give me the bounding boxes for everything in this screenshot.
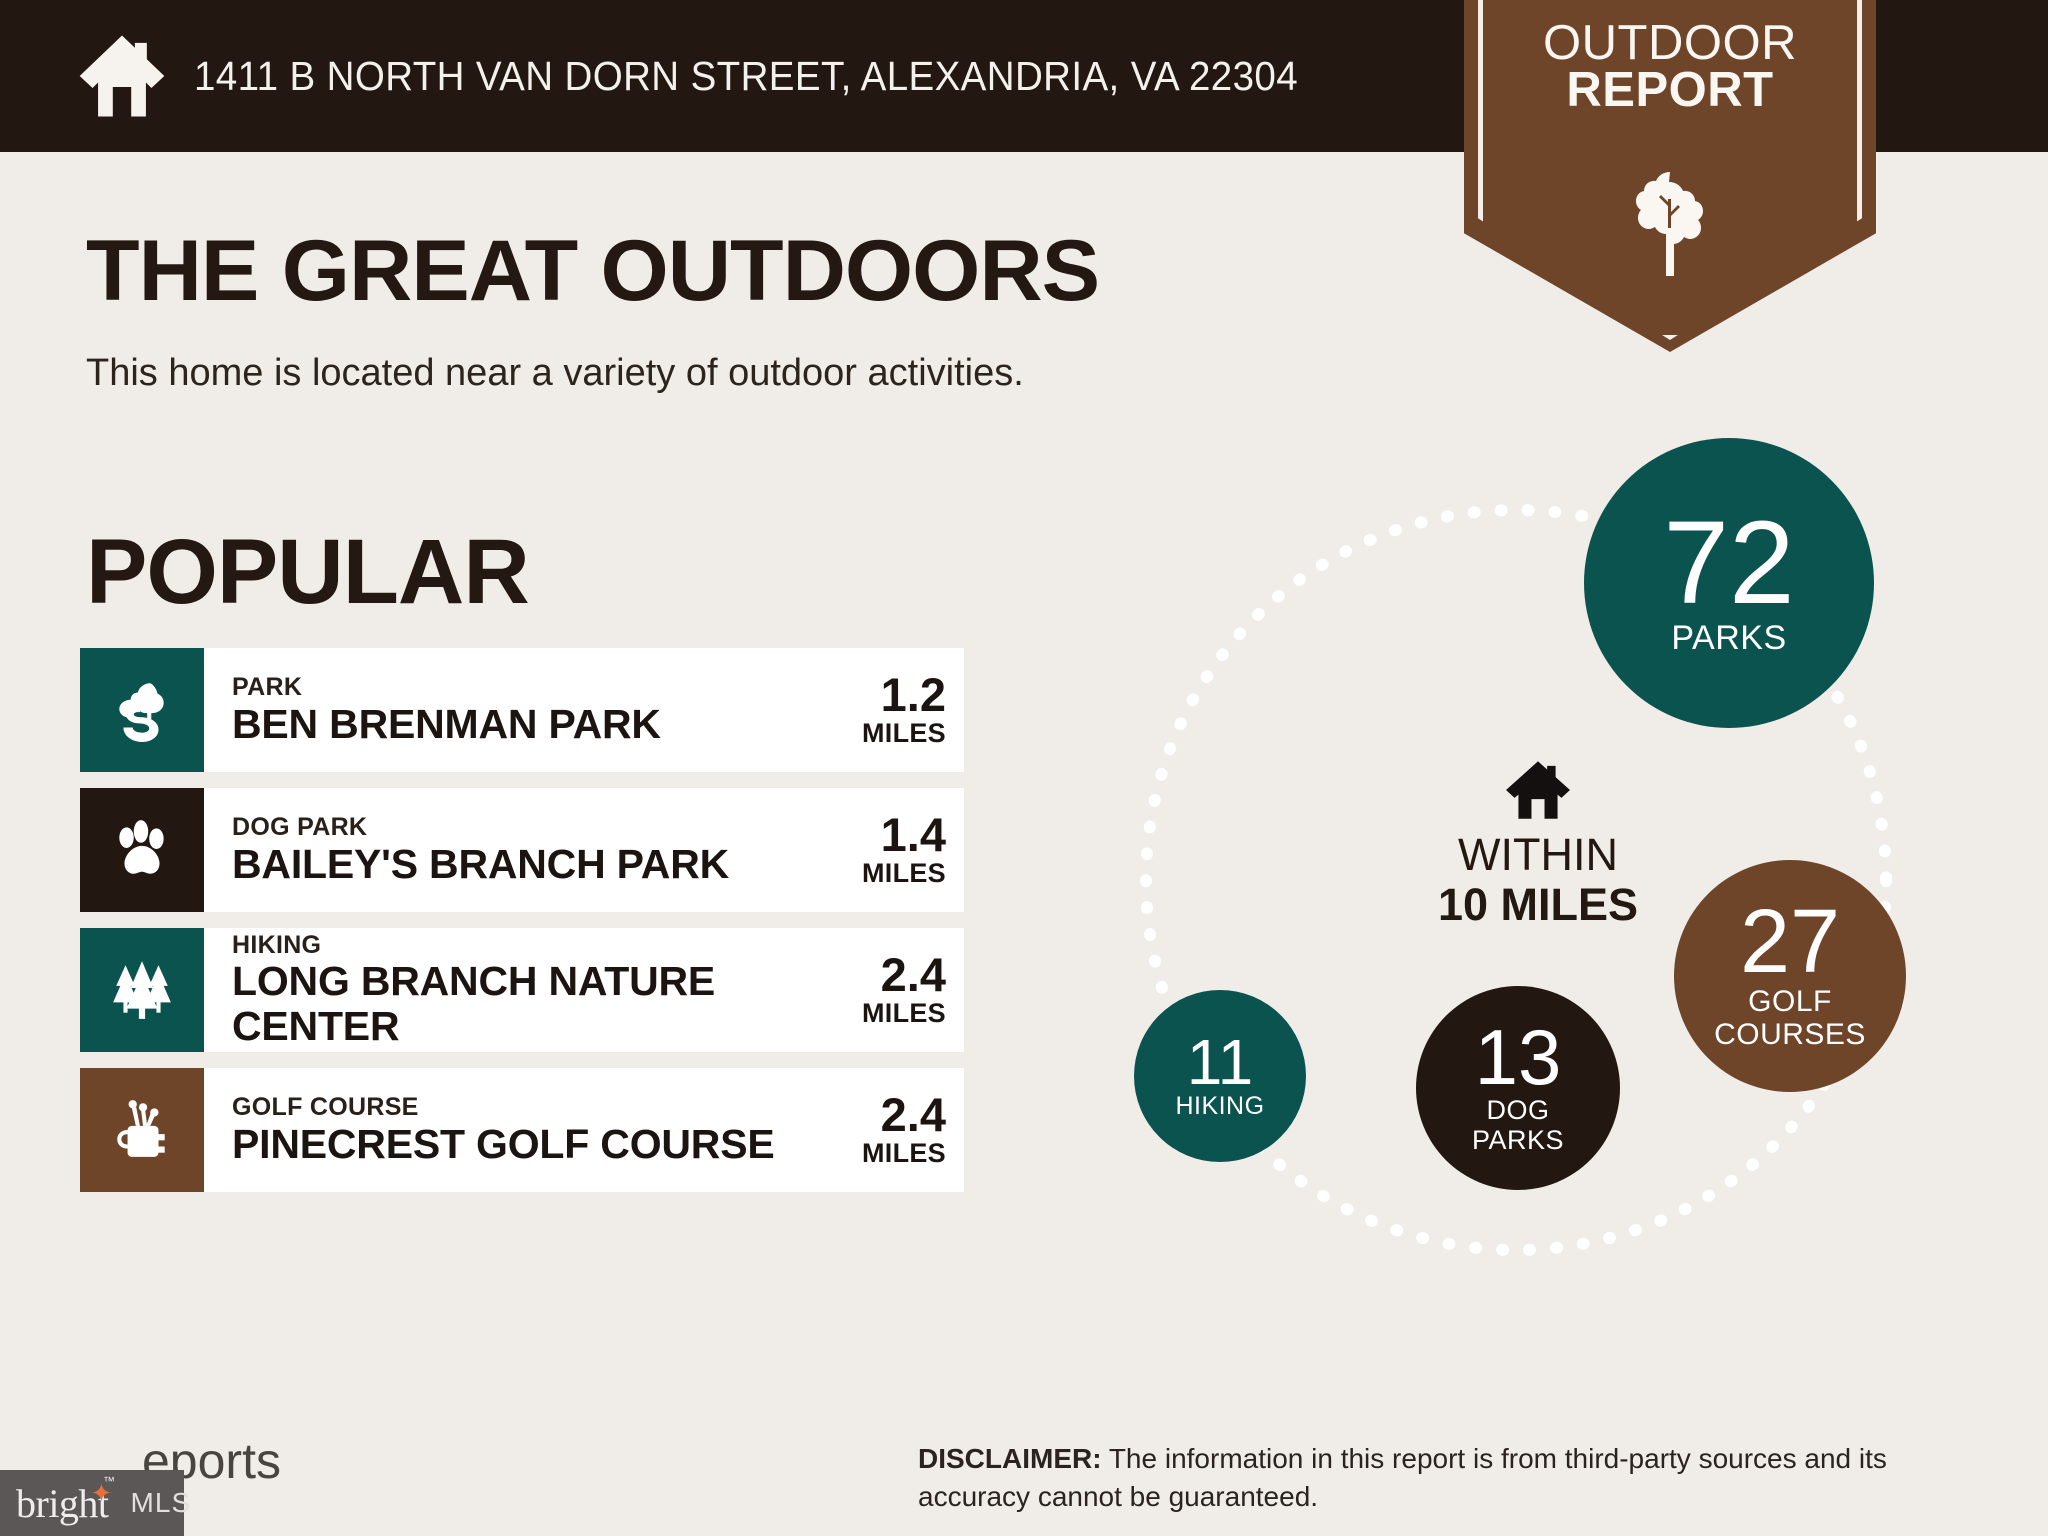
bubble-hiking-label: HIKING	[1175, 1093, 1264, 1119]
poi-category: HIKING	[232, 931, 836, 960]
poi-text: PARK BEN BRENMAN PARK	[204, 648, 836, 772]
within-line1: WITHIN	[1458, 830, 1618, 880]
poi-distance-value: 1.2	[881, 671, 946, 718]
pine-trees-icon	[109, 957, 175, 1023]
list-item[interactable]: PARK BEN BRENMAN PARK 1.2 MILES	[80, 648, 964, 772]
outdoor-report-badge: OUTDOOR REPORT	[1464, 0, 1876, 352]
list-item[interactable]: GOLF COURSE PINECREST GOLF COURSE 2.4 MI…	[80, 1068, 964, 1192]
poi-icon-tile	[80, 648, 204, 772]
poi-distance: 2.4 MILES	[836, 1068, 964, 1192]
poi-name: BAILEY'S BRANCH PARK	[232, 842, 836, 887]
badge-title-line1: OUTDOOR	[1464, 20, 1876, 67]
bubble-dogparks-label-line2: PARKS	[1472, 1126, 1564, 1154]
disclaimer-label: DISCLAIMER:	[918, 1443, 1102, 1474]
popular-heading: POPULAR	[86, 520, 529, 625]
badge-title: OUTDOOR REPORT	[1464, 20, 1876, 113]
golf-bag-icon	[109, 1097, 175, 1163]
poi-distance-unit: MILES	[862, 998, 946, 1029]
tree-icon	[1627, 168, 1713, 278]
poi-distance-unit: MILES	[862, 1138, 946, 1169]
list-item[interactable]: DOG PARK BAILEY'S BRANCH PARK 1.4 MILES	[80, 788, 964, 912]
poi-text: GOLF COURSE PINECREST GOLF COURSE	[204, 1068, 836, 1192]
trademark-mark: ™	[103, 1474, 115, 1488]
bubble-golf-value: 27	[1740, 901, 1840, 984]
popular-list: PARK BEN BRENMAN PARK 1.2 MILES DOG PARK…	[80, 648, 964, 1208]
page-subtitle: This home is located near a variety of o…	[86, 352, 1024, 395]
disclaimer: DISCLAIMER: The information in this repo…	[918, 1440, 1978, 1516]
poi-category: DOG PARK	[232, 813, 836, 842]
property-address: 1411 B NORTH VAN DORN STREET, ALEXANDRIA…	[194, 53, 1298, 100]
poi-distance-value: 2.4	[881, 951, 946, 998]
bubble-hiking-value: 11	[1187, 1033, 1253, 1092]
poi-distance: 1.4 MILES	[836, 788, 964, 912]
paw-print-icon	[109, 817, 175, 883]
poi-text: DOG PARK BAILEY'S BRANCH PARK	[204, 788, 836, 912]
within-10-miles-chart: 72 PARKS 27 GOLF COURSES 13 DOG PARKS 11…	[1086, 430, 1986, 1350]
bubble-parks-value: 72	[1663, 509, 1794, 618]
bubble-dog-parks[interactable]: 13 DOG PARKS	[1416, 986, 1620, 1190]
page-title: THE GREAT OUTDOORS	[86, 222, 1099, 321]
poi-name: PINECREST GOLF COURSE	[232, 1122, 836, 1167]
poi-icon-tile	[80, 1068, 204, 1192]
within-center-label: WITHIN 10 MILES	[1358, 760, 1718, 931]
within-line2: 10 MILES	[1438, 880, 1638, 930]
poi-name: BEN BRENMAN PARK	[232, 702, 836, 747]
home-icon	[1505, 760, 1571, 820]
badge-title-line2: REPORT	[1464, 67, 1876, 114]
poi-category: GOLF COURSE	[232, 1093, 836, 1122]
poi-distance-unit: MILES	[862, 858, 946, 889]
poi-distance-value: 1.4	[881, 811, 946, 858]
poi-text: HIKING LONG BRANCH NATURE CENTER	[204, 928, 836, 1052]
bubble-dogparks-label-line1: DOG	[1486, 1096, 1549, 1124]
list-item[interactable]: HIKING LONG BRANCH NATURE CENTER 2.4 MIL…	[80, 928, 964, 1052]
bubble-parks-label: PARKS	[1671, 621, 1786, 657]
bubble-hiking[interactable]: 11 HIKING	[1134, 990, 1306, 1162]
bubble-golf-label-line1: GOLF	[1748, 986, 1832, 1018]
poi-category: PARK	[232, 673, 836, 702]
park-tree-path-icon	[109, 677, 175, 743]
brightmls-wordmark: bright ✦ ™	[16, 1480, 109, 1527]
poi-icon-tile	[80, 928, 204, 1052]
bubble-dogparks-value: 13	[1475, 1022, 1562, 1094]
brightmls-mls-text: MLS	[131, 1487, 192, 1519]
poi-distance: 1.2 MILES	[836, 648, 964, 772]
bubble-parks[interactable]: 72 PARKS	[1584, 438, 1874, 728]
poi-name: LONG BRANCH NATURE CENTER	[232, 959, 836, 1049]
home-icon	[76, 30, 168, 122]
poi-distance: 2.4 MILES	[836, 928, 964, 1052]
poi-icon-tile	[80, 788, 204, 912]
poi-distance-unit: MILES	[862, 718, 946, 749]
poi-distance-value: 2.4	[881, 1091, 946, 1138]
bubble-golf-label-line2: COURSES	[1714, 1019, 1866, 1051]
brightmls-logo[interactable]: bright ✦ ™ MLS	[0, 1470, 184, 1536]
